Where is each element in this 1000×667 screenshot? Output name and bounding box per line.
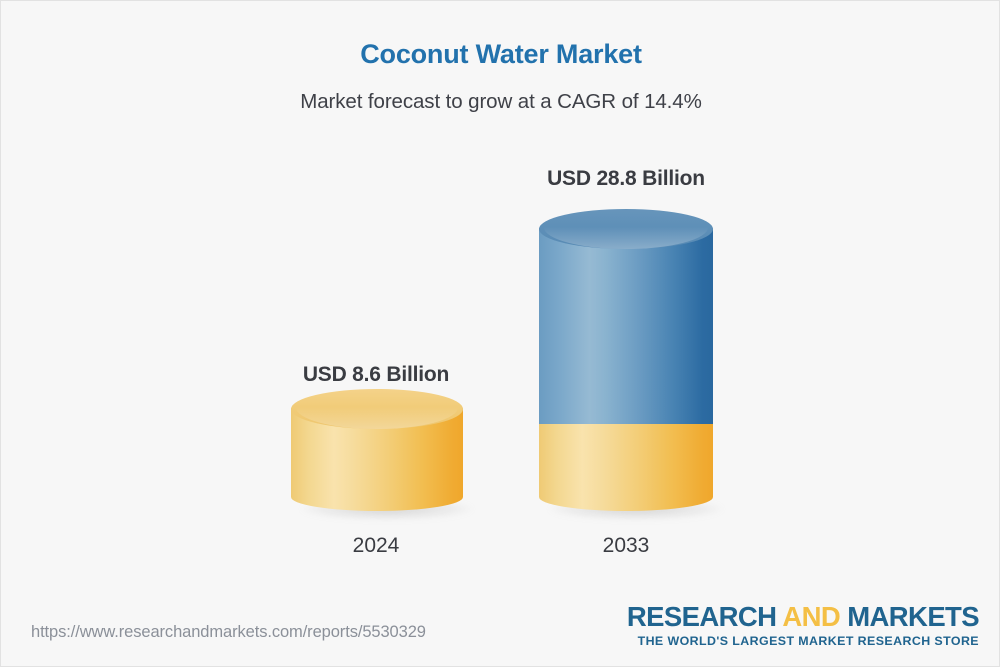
cylinder-2024 <box>291 389 463 511</box>
plot-area: USD 8.6 Billion 2024 USD 28.8 Billion <box>1 1 1000 601</box>
report-url[interactable]: https://www.researchandmarkets.com/repor… <box>31 623 426 642</box>
category-label-2024: 2024 <box>256 534 496 558</box>
research-and-markets-logo[interactable]: RESEARCH AND MARKETS THE WORLD'S LARGEST… <box>627 603 979 647</box>
cylinder-body-upper-2033 <box>539 229 713 424</box>
logo-wordmark: RESEARCH AND MARKETS <box>627 603 979 631</box>
category-label-2033: 2033 <box>506 534 746 558</box>
cylinder-top-cap-2024 <box>291 389 463 429</box>
logo-word-research: RESEARCH <box>627 601 783 632</box>
cylinder-top-cap-2033 <box>539 209 713 249</box>
chart-canvas: Coconut Water Market Market forecast to … <box>0 0 1000 667</box>
cylinder-body-base-2033 <box>539 424 713 511</box>
logo-tagline: THE WORLD'S LARGEST MARKET RESEARCH STOR… <box>627 635 979 647</box>
value-label-2033: USD 28.8 Billion <box>506 167 746 191</box>
cylinder-2033 <box>539 209 713 511</box>
logo-word-markets: MARKETS <box>840 601 979 632</box>
logo-word-and: AND <box>782 601 840 632</box>
value-label-2024: USD 8.6 Billion <box>256 363 496 387</box>
